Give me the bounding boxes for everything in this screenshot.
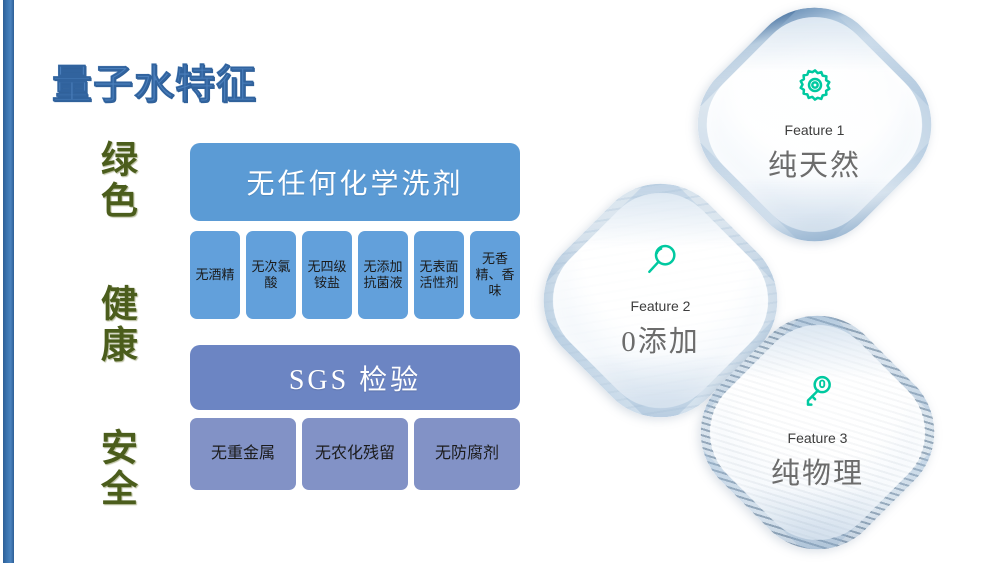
feature-label: Feature 3: [788, 430, 848, 446]
list-item: 无农化残留: [302, 418, 408, 490]
gear-icon: [795, 65, 835, 110]
feature-content-1: Feature 1 纯天然: [712, 22, 917, 227]
list-item: 无防腐剂: [414, 418, 520, 490]
sgs-item-row: 无重金属 无农化残留 无防腐剂: [190, 418, 520, 490]
slide-canvas: 量子水特征 绿色 健康 安全 无任何化学洗剂 无酒精 无次氯酸 无四级铵盐 无添…: [0, 0, 1000, 563]
left-accent-bar: [3, 0, 14, 563]
feature-title: 纯物理: [771, 450, 864, 492]
feature-shape-group: Feature 1 纯天然 Feature 2 0添: [530, 0, 1000, 563]
group-spacer: [190, 319, 520, 345]
keyword-safety: 安全: [96, 428, 135, 510]
keyword-health: 健康: [96, 284, 135, 366]
list-item: 无酒精: [190, 231, 240, 319]
list-item: 无次氯酸: [246, 231, 296, 319]
feature-box-column: 无任何化学洗剂 无酒精 无次氯酸 无四级铵盐 无添加抗菌液 无表面活性剂 无香精…: [190, 143, 520, 490]
page-title: 量子水特征: [52, 52, 257, 110]
feature-title: 0添加: [621, 318, 700, 360]
keyword-column: 绿色 健康 安全: [86, 140, 144, 510]
feature-content-3: Feature 3 纯物理: [715, 330, 920, 535]
list-item: 无表面活性剂: [414, 231, 464, 319]
list-item: 无四级铵盐: [302, 231, 352, 319]
feature-label: Feature 1: [785, 122, 845, 138]
list-item: 无重金属: [190, 418, 296, 490]
group-heading-sgs: SGS 检验: [190, 345, 520, 410]
keyword-green: 绿色: [96, 140, 135, 222]
feature-label: Feature 2: [631, 298, 691, 314]
feature-title: 纯天然: [768, 142, 861, 184]
no-chemicals-item-row: 无酒精 无次氯酸 无四级铵盐 无添加抗菌液 无表面活性剂 无香精、香味: [190, 231, 520, 319]
list-item: 无香精、香味: [470, 231, 520, 319]
key-icon: [798, 373, 838, 418]
magnifier-icon: [641, 241, 681, 286]
group-heading-no-chemicals: 无任何化学洗剂: [190, 143, 520, 221]
list-item: 无添加抗菌液: [358, 231, 408, 319]
